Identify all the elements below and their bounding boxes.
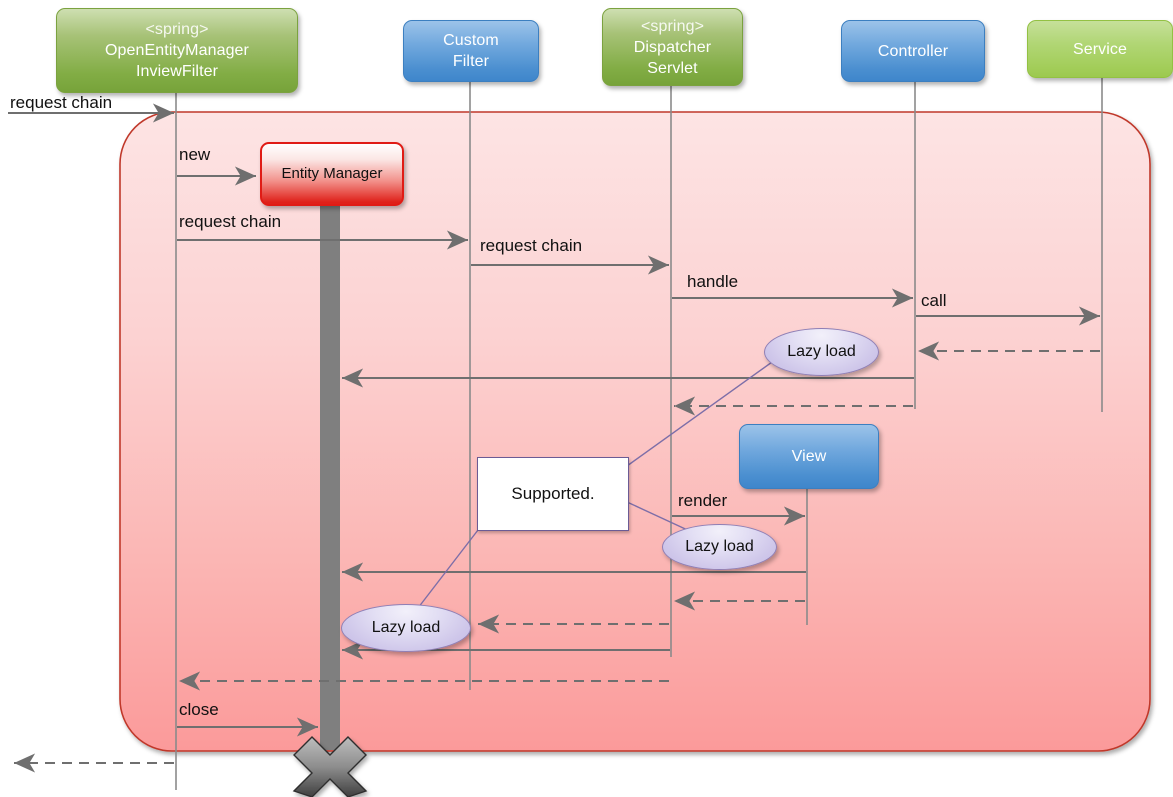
entity-manager-name-1: Entity <box>282 165 320 182</box>
lazy-load-ellipse-1[interactable]: Lazy load <box>764 328 879 376</box>
message-label-close: close <box>179 700 219 720</box>
lifeline-filter-name-2: InviewFilter <box>105 61 249 82</box>
message-label-handle: handle <box>687 272 738 292</box>
lifeline-service-name: Service <box>1073 39 1127 60</box>
lifeline-filter-name-1: OpenEntityManager <box>105 40 249 61</box>
lifeline-head-custom-filter[interactable]: Custom Filter <box>403 20 539 82</box>
lifeline-head-filter[interactable]: <spring> OpenEntityManager InviewFilter <box>56 8 298 93</box>
message-label-request-chain-2: request chain <box>480 236 582 256</box>
lazy-load-label-2: Lazy load <box>685 538 754 556</box>
lazy-load-ellipse-2[interactable]: Lazy load <box>662 524 777 570</box>
sequence-diagram-canvas: <spring> OpenEntityManager InviewFilter … <box>0 0 1173 797</box>
lifeline-dispatcher-name-1: Dispatcher <box>634 37 711 58</box>
lifeline-head-service[interactable]: Service <box>1027 20 1173 78</box>
transaction-frame <box>120 112 1150 751</box>
lifeline-custom-name-2: Filter <box>443 51 499 72</box>
lifeline-dispatcher-stereotype: <spring> <box>634 16 711 37</box>
lifeline-view-name: View <box>792 446 827 467</box>
message-label-request-chain-1: request chain <box>179 212 281 232</box>
lifeline-dispatcher-name-2: Servlet <box>634 58 711 79</box>
lifeline-filter-stereotype: <spring> <box>105 19 249 40</box>
diagram-vector-layer <box>0 0 1173 797</box>
lifeline-controller-name: Controller <box>878 41 948 62</box>
note-supported-text: Supported. <box>511 484 594 504</box>
lazy-load-label-1: Lazy load <box>787 343 856 361</box>
message-label-call: call <box>921 291 947 311</box>
entity-manager-activation-bar <box>320 202 340 750</box>
entity-manager-object[interactable]: Entity Manager <box>260 142 404 206</box>
lazy-load-ellipse-3[interactable]: Lazy load <box>341 604 471 652</box>
lifeline-head-dispatcher-servlet[interactable]: <spring> Dispatcher Servlet <box>602 8 743 86</box>
entity-manager-name-2: Manager <box>323 165 382 182</box>
lifeline-head-controller[interactable]: Controller <box>841 20 985 82</box>
lifeline-custom-name-1: Custom <box>443 30 499 51</box>
message-label-new: new <box>179 145 210 165</box>
lifeline-head-view[interactable]: View <box>739 424 879 489</box>
note-supported[interactable]: Supported. <box>477 457 629 531</box>
message-label-request-chain-in: request chain <box>10 93 112 113</box>
lazy-load-label-3: Lazy load <box>372 619 441 637</box>
message-label-render: render <box>678 491 727 511</box>
